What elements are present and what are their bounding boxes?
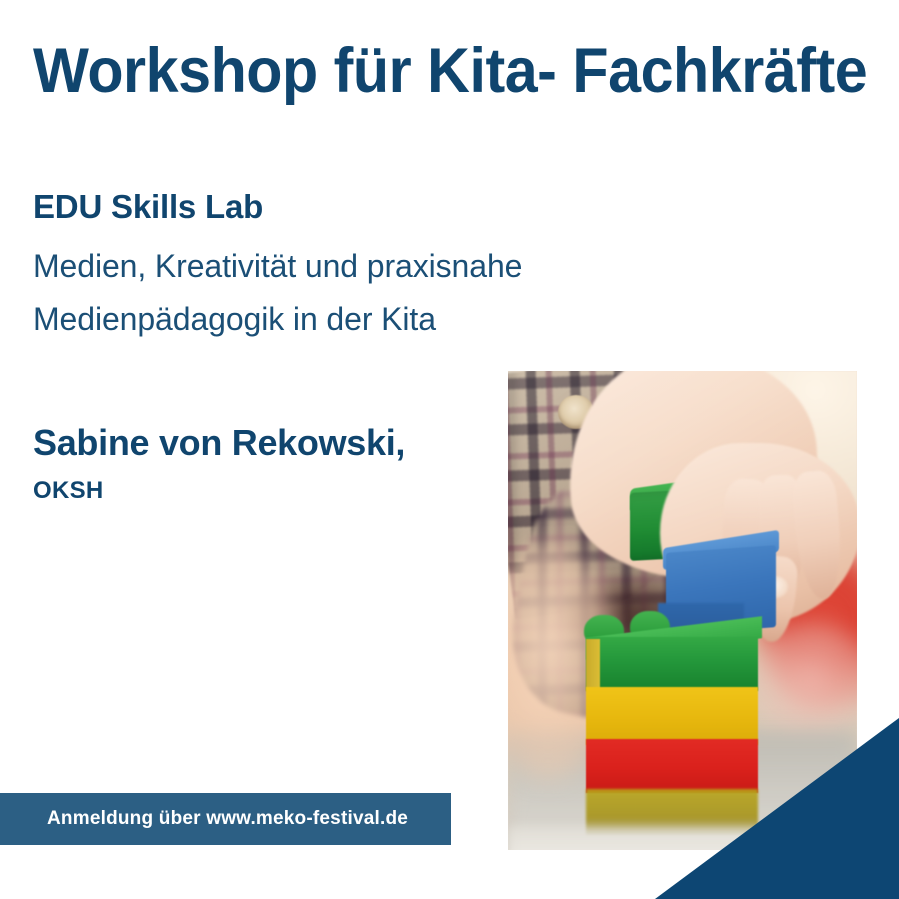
program-title: EDU Skills Lab <box>33 186 553 228</box>
photo-composition <box>508 371 857 850</box>
block-stack-left-edge <box>586 639 600 691</box>
program-description-line-2: Medienpädagogik in der Kita <box>33 293 553 346</box>
poster-canvas: Workshop für Kita- Fachkräfte EDU Skills… <box>0 0 899 899</box>
registration-bar[interactable]: Anmeldung über www.meko-festival.de <box>0 793 451 845</box>
registration-text: Anmeldung über www.meko-festival.de <box>47 808 408 830</box>
workshop-photo <box>508 371 857 850</box>
block-stack-shadow <box>508 371 520 571</box>
speaker-organisation: OKSH <box>33 477 503 505</box>
block-yellow-stack <box>586 687 758 745</box>
block-green-stack <box>586 637 758 691</box>
program-description-line-1: Medien, Kreativität und praxisnahe <box>33 240 553 293</box>
block-red-stack <box>586 739 758 793</box>
program-block: EDU Skills Lab Medien, Kreativität und p… <box>33 186 553 346</box>
speaker-block: Sabine von Rekowski, OKSH <box>33 421 503 505</box>
table-foreground <box>508 826 857 850</box>
speaker-name: Sabine von Rekowski, <box>33 421 503 465</box>
page-title: Workshop für Kita- Fachkräfte <box>33 36 841 106</box>
